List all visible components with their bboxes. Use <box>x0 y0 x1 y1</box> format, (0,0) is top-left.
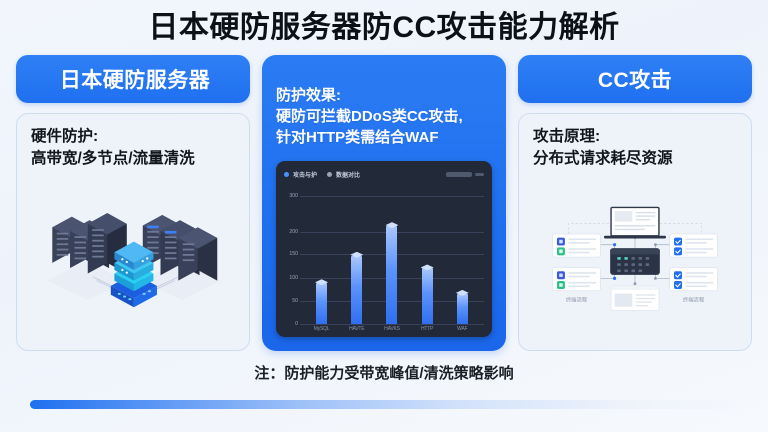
y-tick: 300 <box>289 193 298 199</box>
right-header-pill: CC攻击 <box>518 55 752 103</box>
middle-body-text: 防护效果: 硬防可拦截DDoS类CC攻击, 针对HTTP类需结合WAF <box>276 85 492 149</box>
legend-dot-icon <box>284 172 289 177</box>
chart-x-axis: MySQL HAVTE HAVKS HTTP WAF <box>300 326 484 332</box>
bar-group <box>457 185 468 323</box>
bar-group <box>351 185 362 323</box>
topology-label-left: 终端流程 <box>566 296 588 304</box>
chart-bars <box>300 185 484 323</box>
y-tick: 200 <box>289 229 298 235</box>
chart-header: 攻击与护 数据对比 <box>284 168 484 181</box>
y-tick: 50 <box>292 298 298 304</box>
column-middle: 防护效果: 硬防可拦截DDoS类CC攻击, 针对HTTP类需结合WAF 攻击与护… <box>262 55 506 351</box>
bar-group <box>386 185 397 323</box>
legend-label-primary: 攻击与护 <box>293 170 317 179</box>
legend-item-primary[interactable]: 攻击与护 <box>284 170 317 179</box>
three-column-layout: 日本硬防服务器 硬件防护: 高带宽/多节点/流量清洗 <box>0 55 768 351</box>
x-tick: HAVKS <box>381 326 403 332</box>
legend-item-secondary[interactable]: 数据对比 <box>327 170 360 179</box>
bar-group <box>316 185 327 323</box>
right-pill-label: CC攻击 <box>598 64 672 94</box>
chart-bar <box>351 256 362 324</box>
toolbar-placeholder-icon <box>446 172 472 177</box>
x-tick: HTTP <box>416 326 438 332</box>
chart-bar <box>457 294 468 324</box>
chart-bar <box>316 283 327 323</box>
footer-note: 注：防护能力受带宽峰值/清洗策略影响 <box>0 362 768 383</box>
left-pill-label: 日本硬防服务器 <box>60 64 211 94</box>
y-tick: 150 <box>289 251 298 257</box>
bar-group <box>422 185 433 323</box>
distributed-request-topology: 终端流程 终端流程 <box>533 172 737 343</box>
chart-plot-area: 0 50 100 150 200 300 <box>284 185 484 323</box>
x-tick: WAF <box>451 326 473 332</box>
bar-chart-card: 攻击与护 数据对比 0 50 100 <box>276 161 492 336</box>
footer-gradient-bar <box>30 400 738 409</box>
server-racks-illustration <box>31 172 235 343</box>
middle-blue-panel: 防护效果: 硬防可拦截DDoS类CC攻击, 针对HTTP类需结合WAF 攻击与护… <box>262 55 506 351</box>
y-tick: 100 <box>289 275 298 281</box>
chart-gridlines <box>300 185 484 323</box>
x-tick: MySQL <box>311 326 333 332</box>
right-body-text: 攻击原理: 分布式请求耗尽资源 <box>533 126 737 171</box>
right-body-card: 攻击原理: 分布式请求耗尽资源 <box>518 113 752 351</box>
column-right: CC攻击 攻击原理: 分布式请求耗尽资源 <box>518 55 752 351</box>
x-tick: HAVTE <box>346 326 368 332</box>
chart-toolbar[interactable] <box>446 172 484 177</box>
left-header-pill: 日本硬防服务器 <box>16 55 250 103</box>
chart-bar <box>422 268 433 323</box>
legend-label-secondary: 数据对比 <box>336 170 360 179</box>
legend-dot-icon <box>327 172 332 177</box>
chart-bar <box>386 226 397 323</box>
left-body-text: 硬件防护: 高带宽/多节点/流量清洗 <box>31 126 235 171</box>
page-title: 日本硬防服务器防CC攻击能力解析 <box>0 0 768 46</box>
chart-y-axis: 0 50 100 150 200 300 <box>284 185 300 323</box>
topology-label-right: 终端流程 <box>683 296 705 304</box>
left-body-card: 硬件防护: 高带宽/多节点/流量清洗 <box>16 113 250 351</box>
column-left: 日本硬防服务器 硬件防护: 高带宽/多节点/流量清洗 <box>16 55 250 351</box>
toolbar-menu-icon <box>475 173 484 176</box>
y-tick: 0 <box>295 321 298 327</box>
